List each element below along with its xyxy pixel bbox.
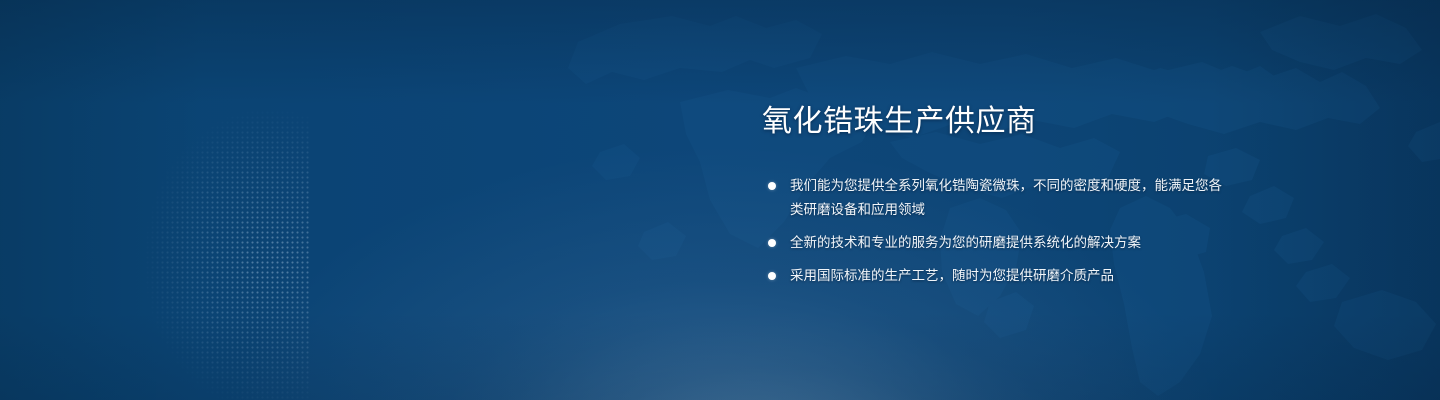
bullet-dot-icon — [768, 272, 776, 280]
feature-list-item: 采用国际标准的生产工艺，随时为您提供研磨介质产品 — [762, 264, 1232, 288]
banner-feature-list: 我们能为您提供全系列氧化锆陶瓷微珠，不同的密度和硬度，能满足您各类研磨设备和应用… — [762, 174, 1232, 288]
feature-list-item-text: 采用国际标准的生产工艺，随时为您提供研磨介质产品 — [790, 268, 1114, 283]
banner-content: 氧化锆珠生产供应商 我们能为您提供全系列氧化锆陶瓷微珠，不同的密度和硬度，能满足… — [762, 104, 1232, 288]
feature-list-item: 我们能为您提供全系列氧化锆陶瓷微珠，不同的密度和硬度，能满足您各类研磨设备和应用… — [762, 174, 1232, 222]
feature-list-item-text: 全新的技术和专业的服务为您的研磨提供系统化的解决方案 — [790, 235, 1141, 250]
feature-list-item: 全新的技术和专业的服务为您的研磨提供系统化的解决方案 — [762, 231, 1232, 255]
hero-banner: 氧化锆珠生产供应商 我们能为您提供全系列氧化锆陶瓷微珠，不同的密度和硬度，能满足… — [0, 0, 1440, 400]
feature-list-item-text: 我们能为您提供全系列氧化锆陶瓷微珠，不同的密度和硬度，能满足您各类研磨设备和应用… — [790, 178, 1222, 217]
bullet-dot-icon — [768, 239, 776, 247]
banner-headline: 氧化锆珠生产供应商 — [762, 104, 1232, 139]
bullet-dot-icon — [768, 182, 776, 190]
